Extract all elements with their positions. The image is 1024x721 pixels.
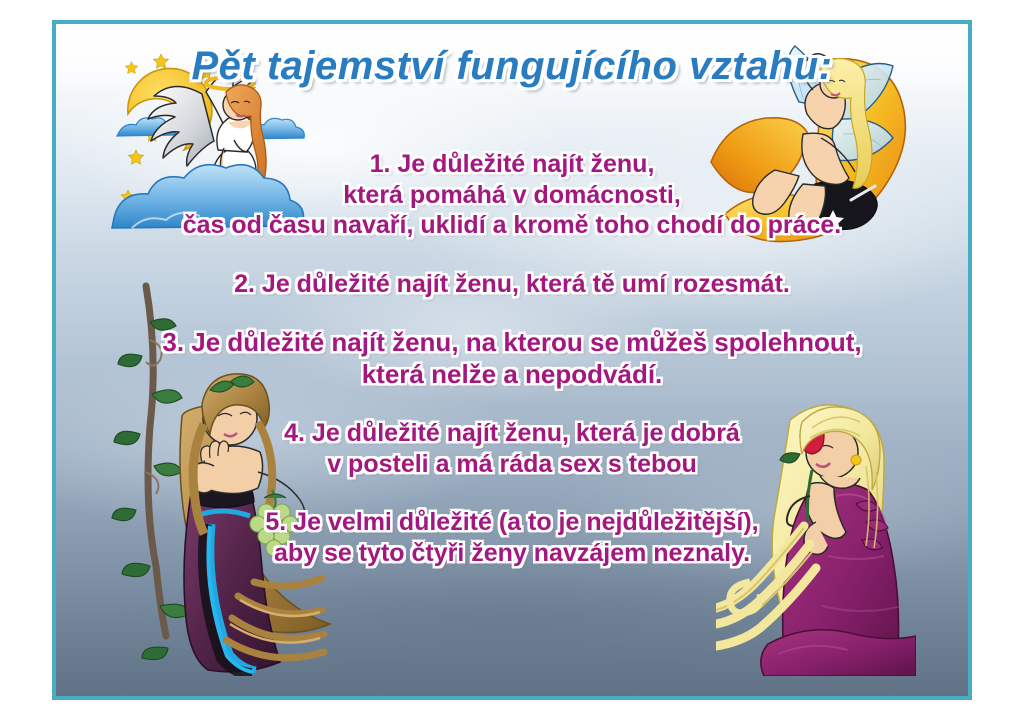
secret-line: čas od času navaří, uklidí a kromě toho … [56,210,968,241]
secret-line: 1. Je důležité najít ženu, [56,149,968,180]
secrets-list: 1. Je důležité najít ženu, která pomáhá … [56,149,968,596]
secret-line: která pomáhá v domácnosti, [56,180,968,211]
secret-line: 3. Je důležité najít ženu, na kterou se … [56,327,968,359]
list-item: 3. Je důležité najít ženu, na kterou se … [56,327,968,390]
secret-line: 2. Je důležité najít ženu, která tě umí … [56,269,968,300]
secret-line: aby se tyto čtyři ženy navzájem neznaly. [56,538,968,569]
list-item: 5. Je velmi důležité (a to je nejdůležit… [56,507,968,568]
list-item: 2. Je důležité najít ženu, která tě umí … [56,269,968,300]
secret-line: která nelže a nepodvádí. [56,359,968,391]
poster-text-layer: Pět tajemství fungujícího vztahu: 1. Je … [56,24,968,696]
list-item: 1. Je důležité najít ženu, která pomáhá … [56,149,968,241]
poster-frame: Pět tajemství fungujícího vztahu: 1. Je … [52,20,972,700]
page-title: Pět tajemství fungujícího vztahu: [56,44,968,89]
secret-line: v posteli a má ráda sex s tebou [56,449,968,480]
list-item: 4. Je důležité najít ženu, která je dobr… [56,418,968,479]
poster-canvas: Pět tajemství fungujícího vztahu: 1. Je … [0,0,1024,721]
secret-line: 4. Je důležité najít ženu, která je dobr… [56,418,968,449]
secret-line: 5. Je velmi důležité (a to je nejdůležit… [56,507,968,538]
